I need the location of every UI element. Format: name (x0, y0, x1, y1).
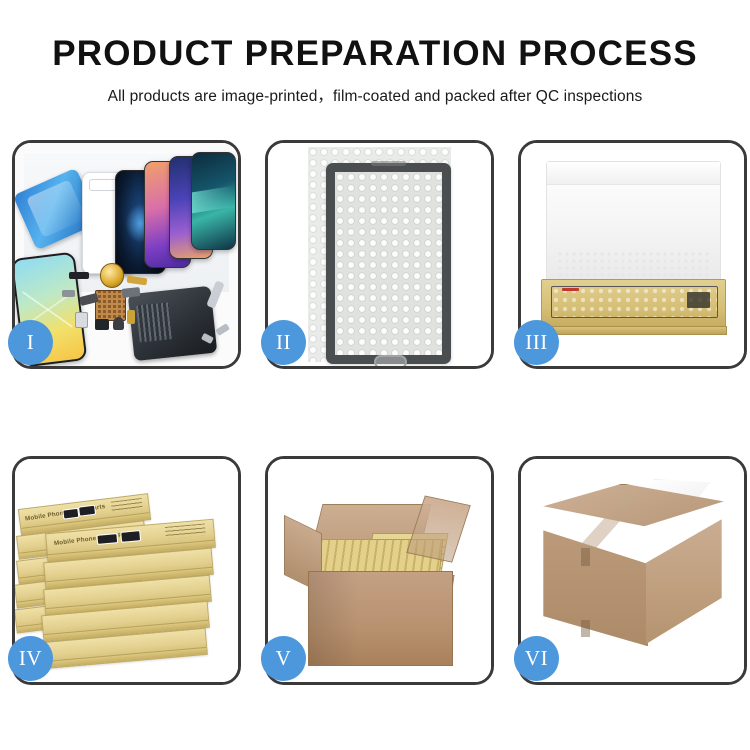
logic-board (128, 286, 217, 361)
label-spec-lines (111, 498, 143, 512)
process-step-grid: I II III (12, 140, 738, 685)
carton-right-face (646, 519, 722, 644)
earpiece-slot (371, 161, 405, 166)
carton-seam (581, 620, 590, 638)
small-part (75, 312, 88, 327)
page-title: PRODUCT PREPARATION PROCESS (0, 0, 750, 73)
small-part (113, 317, 124, 330)
process-step-panel-2: II (265, 140, 494, 369)
label-phone-image (97, 533, 118, 545)
label-phone-image (120, 530, 141, 542)
process-step-panel-6: VI (518, 456, 747, 685)
process-step-panel-3: III (518, 140, 747, 369)
step-badge-6: VI (514, 636, 559, 681)
carton-body (308, 571, 453, 667)
small-part (127, 310, 136, 323)
wrapped-phone-screen (326, 163, 451, 364)
process-step-panel-4: Mobile Phone Spare Parts Mobile Phone Sp… (12, 456, 241, 685)
small-part (122, 287, 141, 298)
kraft-tray (541, 279, 726, 330)
gold-coil-component (100, 263, 124, 287)
home-button-outline (374, 355, 408, 366)
red-label-mark (562, 288, 578, 291)
small-part (95, 319, 108, 330)
gradient-phone-teal (191, 152, 235, 250)
label-spec-lines (165, 524, 206, 539)
white-foam-lid (546, 161, 722, 288)
step-badge-2: II (261, 320, 306, 365)
step-badge-3: III (514, 320, 559, 365)
page-header: PRODUCT PREPARATION PROCESS All products… (0, 0, 750, 106)
page-subtitle: All products are image-printed，film-coat… (0, 73, 750, 106)
label-phone-image (79, 505, 96, 517)
step-badge-5: V (261, 636, 306, 681)
carton-seam (581, 548, 590, 566)
process-step-panel-1: I (12, 140, 241, 369)
small-part (69, 272, 89, 279)
label-phone-image (62, 508, 79, 520)
step-badge-4: IV (8, 636, 53, 681)
small-part (62, 290, 75, 297)
box-edge (44, 647, 207, 668)
step-badge-1: I (8, 320, 53, 365)
process-step-panel-5: V (265, 456, 494, 685)
small-part (215, 323, 230, 336)
tray-front-edge (542, 326, 727, 335)
